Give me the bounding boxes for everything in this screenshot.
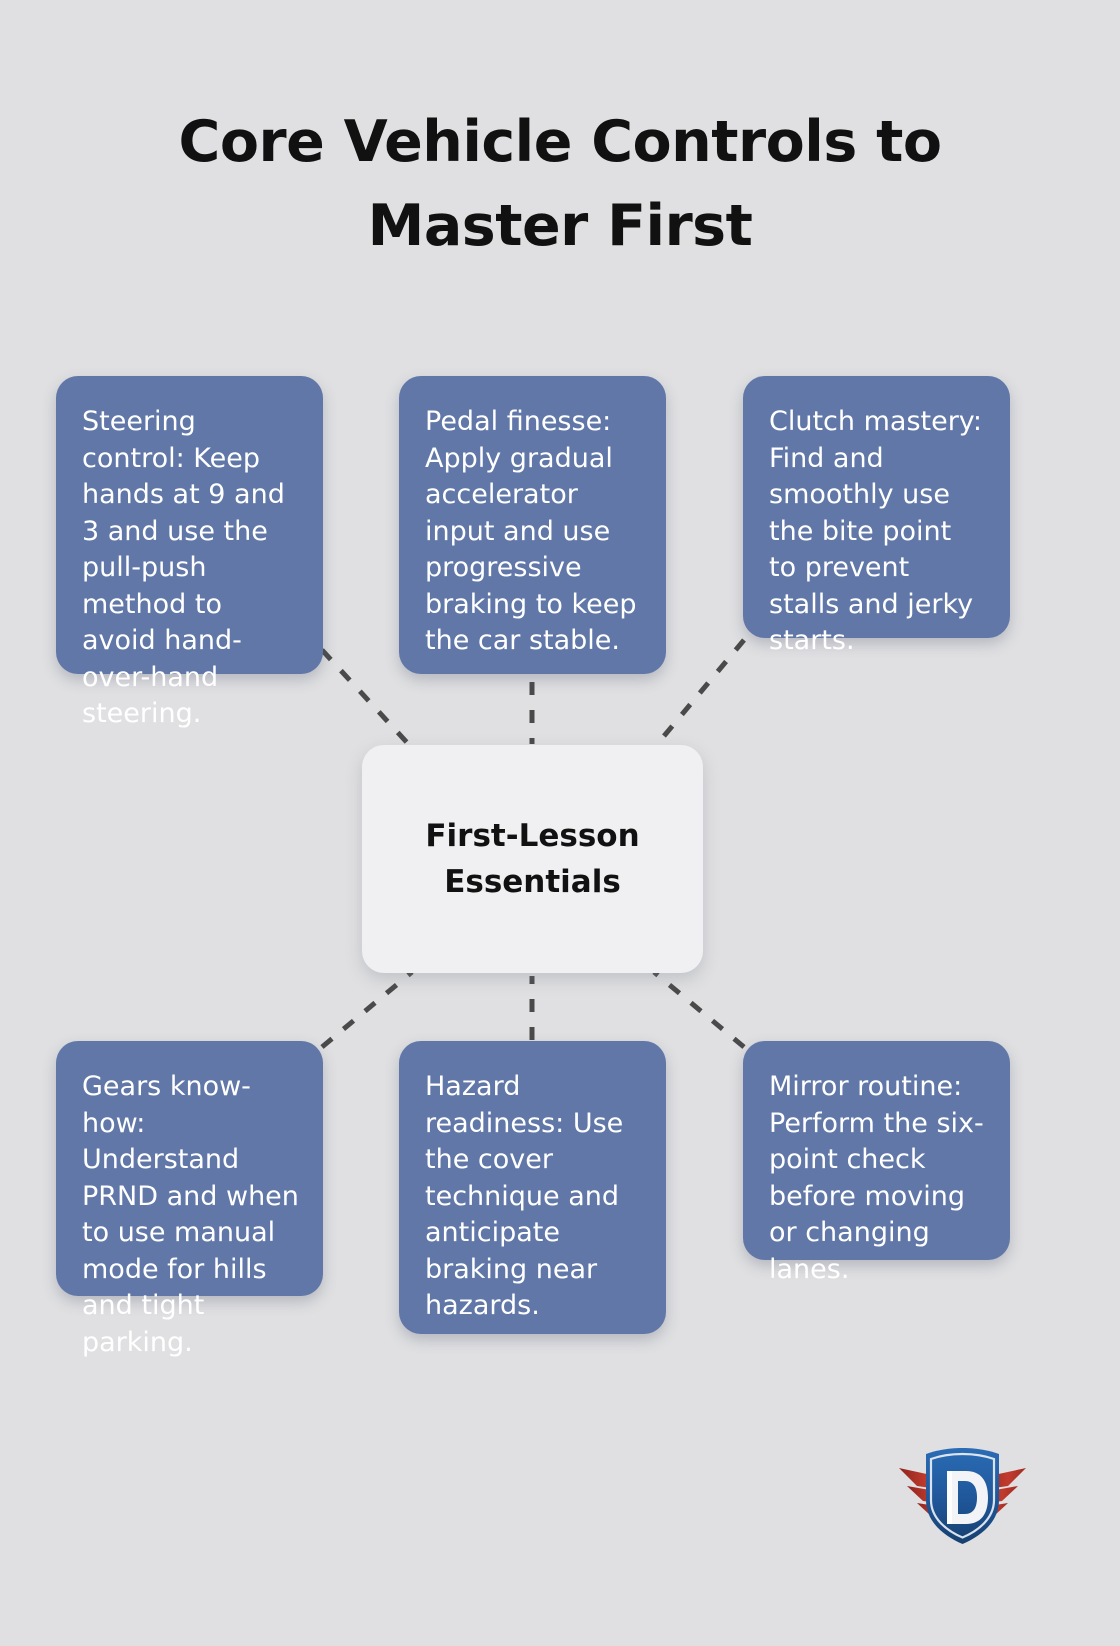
card-mirror-routine-text: Mirror routine: Perform the six-point ch… [769,1071,984,1285]
card-mirror-routine[interactable]: Mirror routine: Perform the six-point ch… [743,1041,1010,1260]
card-clutch-mastery[interactable]: Clutch mastery: Find and smoothly use th… [743,376,1010,638]
connector-clutch-to-center [654,640,744,748]
connector-gears-to-center [322,972,412,1047]
center-node-label: First-Lesson Essentials [425,813,639,905]
card-pedal-finesse[interactable]: Pedal finesse: Apply gradual accelerator… [399,376,666,674]
card-hazard-readiness[interactable]: Hazard readiness: Use the cover techniqu… [399,1041,666,1334]
infographic-canvas: Core Vehicle Controls to Master First St… [0,0,1120,1646]
logo-shield [926,1448,999,1544]
winged-shield-logo [895,1440,1030,1550]
center-node[interactable]: First-Lesson Essentials [362,745,703,973]
connector-steering-to-center [322,650,412,748]
card-hazard-readiness-text: Hazard readiness: Use the cover techniqu… [425,1071,623,1321]
card-gears-know-how[interactable]: Gears know-how: Understand PRND and when… [56,1041,323,1296]
card-pedal-finesse-text: Pedal finesse: Apply gradual accelerator… [425,406,636,656]
connector-mirror-to-center [654,972,744,1047]
card-clutch-mastery-text: Clutch mastery: Find and smoothly use th… [769,406,982,656]
card-steering-control[interactable]: Steering control: Keep hands at 9 and 3 … [56,376,323,674]
